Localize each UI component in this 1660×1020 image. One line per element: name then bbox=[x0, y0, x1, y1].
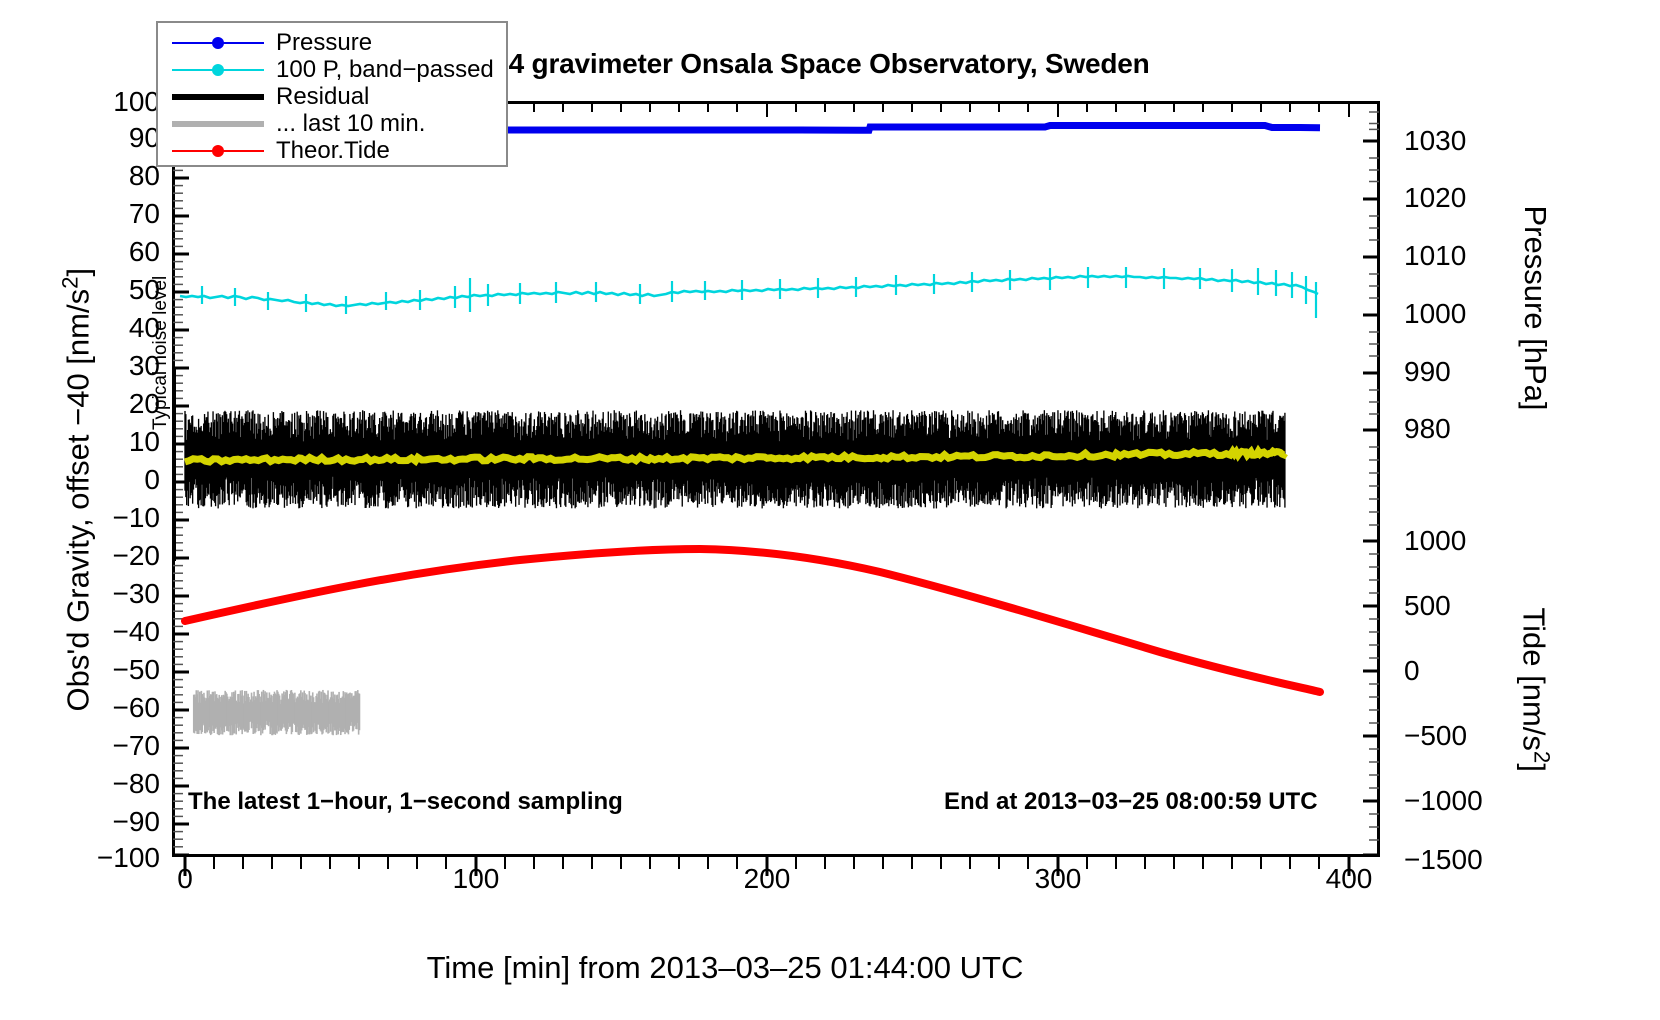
legend-label: Pressure bbox=[264, 29, 372, 57]
legend-label: Theor.Tide bbox=[264, 137, 390, 165]
annotation-noise-level: Typical noise level bbox=[150, 210, 172, 430]
series-theor-tide bbox=[185, 549, 1320, 692]
legend-item-pressure[interactable]: Pressure bbox=[158, 29, 506, 56]
annotation-end-time: End at 2013−03−25 08:00:59 UTC bbox=[944, 788, 1318, 816]
legend-item-last10[interactable]: ... last 10 min. bbox=[158, 110, 506, 137]
legend-label: ... last 10 min. bbox=[264, 110, 425, 138]
legend-label: 100 P, band−passed bbox=[264, 56, 494, 84]
series-bandpassed bbox=[180, 267, 1318, 318]
legend-swatch-residual bbox=[172, 89, 264, 105]
legend-swatch-pressure bbox=[172, 35, 264, 51]
legend-item-residual[interactable]: Residual bbox=[158, 83, 506, 110]
legend-item-theor-tide[interactable]: Theor.Tide bbox=[158, 137, 506, 164]
legend-swatch-theor-tide bbox=[172, 143, 264, 159]
noise-level-bar bbox=[172, 368, 176, 561]
legend-item-bandpassed[interactable]: 100 P, band−passed bbox=[158, 56, 506, 83]
right-axis-major-ticks bbox=[1363, 141, 1379, 855]
legend-swatch-bandpassed bbox=[172, 62, 264, 78]
legend-swatch-last10 bbox=[172, 116, 264, 132]
series-pressure bbox=[500, 126, 1320, 131]
right-axis-minor-ticks bbox=[1369, 112, 1379, 840]
legend-label: Residual bbox=[264, 83, 369, 111]
legend: Pressure 100 P, band−passed Residual ...… bbox=[156, 21, 508, 167]
annotation-sampling: The latest 1−hour, 1−second sampling bbox=[188, 788, 623, 816]
chart-page: SCG_054 gravimeter Onsala Space Observat… bbox=[0, 0, 1660, 1020]
series-last-10-min bbox=[194, 690, 360, 735]
